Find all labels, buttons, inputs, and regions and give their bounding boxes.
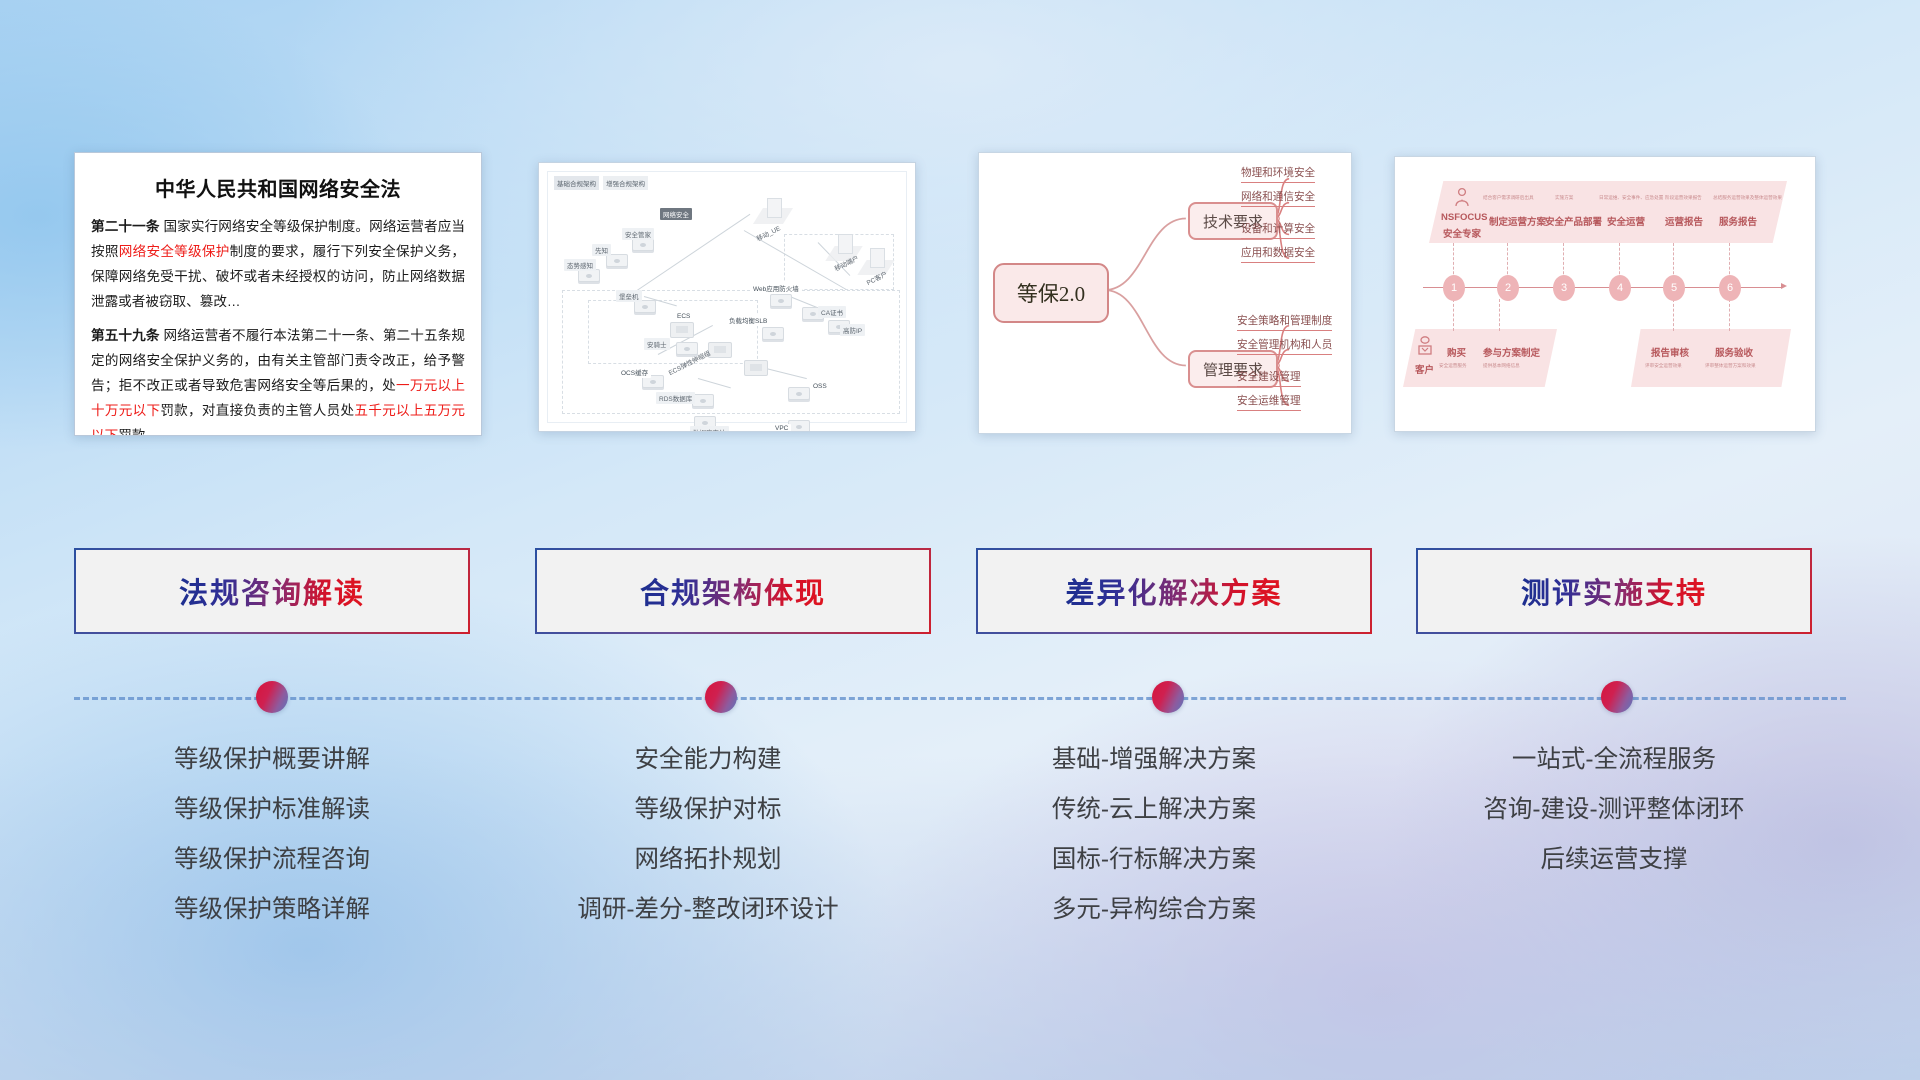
law-text-card: 中华人民共和国网络安全法 第二十一条 国家实行网络安全等级保护制度。网络运营者应… [74, 152, 482, 436]
list-item: 后续运营支撑 [1396, 835, 1832, 885]
label-ecs: ECS [674, 312, 693, 321]
list-item: 等级保护概要讲解 [74, 735, 470, 785]
node-rds [692, 394, 714, 407]
server-icon-pc [870, 248, 885, 268]
bottom-step-1-sub: 安全运营服务 [1439, 363, 1467, 369]
article-59-text-c: 罚款。 [118, 428, 159, 436]
bullet-column-4: 一站式-全流程服务 咨询-建设-测评整体闭环 后续运营支撑 [1396, 735, 1832, 885]
dash-b6 [1729, 299, 1731, 331]
step-dot-4: 4 [1609, 275, 1631, 301]
timeline-dot-2[interactable] [705, 681, 737, 713]
timeline-dot-4[interactable] [1601, 681, 1633, 713]
banner-label-4: 测评实施支持 [1521, 570, 1707, 612]
expert-name: NSFOCUS [1441, 212, 1487, 223]
mindmap-root-node: 等保2.0 [993, 263, 1109, 323]
step-dot-1: 1 [1443, 275, 1465, 301]
label-bastion-host: 堡垒机 [616, 290, 642, 302]
label-rds: RDS数据库 [656, 392, 695, 404]
dash-b2 [1499, 299, 1501, 331]
dash-b5 [1673, 299, 1675, 331]
node-slb [762, 327, 784, 340]
label-network-security: 网络安全 [660, 208, 692, 220]
label-db-audit: 数据库审计 [690, 426, 729, 432]
list-item: 一站式-全流程服务 [1396, 735, 1832, 785]
mindmap-leaf-physical-env: 物理和环境安全 [1241, 165, 1315, 183]
banner-differentiated-solution[interactable]: 差异化解决方案 [976, 548, 1372, 634]
bullet-column-2: 安全能力构建 等级保护对标 网络拓扑规划 调研-差分-整改闭环设计 [510, 735, 906, 935]
banner-assessment-support[interactable]: 测评实施支持 [1416, 548, 1812, 634]
top-step-2-sub: 实施方案 [1555, 195, 1573, 201]
bullet-column-1: 等级保护概要讲解 等级保护标准解读 等级保护流程咨询 等级保护策略详解 [74, 735, 470, 935]
timeline-dot-3[interactable] [1152, 681, 1184, 713]
bottom-step-4-title: 服务验收 [1715, 345, 1753, 359]
list-item: 国标-行标解决方案 [956, 835, 1352, 885]
label-waf: Web应用防火墙 [750, 282, 802, 294]
banner-label-1: 法规咨询解读 [179, 570, 365, 612]
list-item: 等级保护流程咨询 [74, 835, 470, 885]
bottom-step-2-sub: 提供基本网络信息 [1483, 363, 1520, 369]
top-step-3-sub: 日常运维、安全事件、应急处置 [1599, 195, 1663, 201]
top-step-4-sub: 阶段运营效果报告 [1665, 195, 1702, 201]
law-card-title: 中华人民共和国网络安全法 [91, 173, 465, 202]
expert-sub: 安全专家 [1443, 226, 1481, 240]
label-ca: CA证书 [818, 306, 846, 318]
tab-enhanced-architecture[interactable]: 增强合规架构 [603, 176, 648, 190]
node-ecs [670, 322, 694, 338]
top-step-3-title: 安全运营 [1607, 214, 1645, 228]
process-axis-arrow-icon [1781, 283, 1787, 289]
bottom-step-3-sub: 评审安全运营效果 [1645, 363, 1682, 369]
top-step-1-sub: 结合客户需求调研后出具 [1483, 195, 1534, 201]
bottom-step-4-sub: 评审整体运营方案和效果 [1705, 363, 1756, 369]
article-21-label: 第二十一条 [91, 219, 160, 234]
list-item: 网络拓扑规划 [510, 835, 906, 885]
list-item: 等级保护对标 [510, 785, 906, 835]
bullet-column-3: 基础-增强解决方案 传统-云上解决方案 国标-行标解决方案 多元-异构综合方案 [956, 735, 1352, 935]
link-1 [634, 214, 751, 293]
banner-label-2: 合规架构体现 [640, 570, 826, 612]
expert-person-icon [1451, 187, 1473, 209]
law-article-21: 第二十一条 国家实行网络安全等级保护制度。网络运营者应当按照网络安全等级保护制度… [91, 214, 465, 314]
banner-label-3: 差异化解决方案 [1065, 570, 1282, 612]
timeline-line [74, 697, 1846, 700]
banner-regulation-consulting[interactable]: 法规咨询解读 [74, 548, 470, 634]
node-waf [770, 294, 792, 307]
top-step-4-title: 运营报告 [1665, 214, 1703, 228]
tab-basic-architecture[interactable]: 基础合规架构 [554, 176, 599, 190]
timeline-dot-1[interactable] [256, 681, 288, 713]
top-step-5-sub: 总结服务运营效果及整体运营效果 [1713, 195, 1782, 201]
mindmap-leaf-construction-mgmt: 安全建设管理 [1237, 369, 1301, 387]
law-article-59: 第五十九条 网络运营者不履行本法第二十一条、第二十五条规定的网络安全保护义务的，… [91, 323, 465, 436]
label-security-butler: 安全管家 [622, 228, 654, 240]
dash-3 [1563, 243, 1565, 279]
mindmap-leaf-ops-mgmt: 安全运维管理 [1237, 393, 1301, 411]
node-vpc [788, 420, 810, 432]
list-item: 调研-差分-整改闭环设计 [510, 885, 906, 935]
top-step-5-title: 服务报告 [1719, 214, 1757, 228]
article-59-label: 第五十九条 [91, 328, 160, 343]
bottom-step-1-title: 购买 [1447, 345, 1466, 359]
mindmap-leaf-app-data: 应用和数据安全 [1241, 245, 1315, 263]
label-vpc: VPC [772, 424, 791, 432]
mindmap-leaf-org-personnel: 安全管理机构和人员 [1237, 337, 1332, 355]
top-step-1-title: 制定运营方案 [1489, 214, 1546, 228]
service-process-card: NSFOCUS 安全专家 客户 结合客户需求调研后出具 制定运营方案 实施方案 … [1394, 156, 1816, 432]
list-item: 等级保护标准解读 [74, 785, 470, 835]
banner-compliance-architecture[interactable]: 合规架构体现 [535, 548, 931, 634]
list-item: 基础-增强解决方案 [956, 735, 1352, 785]
step-dot-6: 6 [1719, 275, 1741, 301]
node-ecs-group-2 [744, 360, 768, 376]
article-21-highlight: 网络安全等级保护 [119, 244, 230, 259]
dash-4 [1619, 243, 1621, 279]
step-dot-3: 3 [1553, 275, 1575, 301]
top-step-2-title: 安全产品部署 [1545, 214, 1602, 228]
step-dot-2: 2 [1497, 275, 1519, 301]
label-anqishi: 安骑士 [644, 338, 670, 350]
label-anti-ddos: 高防IP [840, 324, 865, 336]
server-icon-top [767, 198, 782, 218]
label-mobile-ue: 移动_UE [751, 220, 785, 245]
dash-2 [1507, 243, 1509, 279]
architecture-tabs: 基础合规架构 增强合规架构 [554, 176, 648, 190]
architecture-canvas: 基础合规架构 增强合规架构 [547, 171, 907, 423]
step-dot-5: 5 [1663, 275, 1685, 301]
dash-1 [1453, 243, 1455, 279]
mindmap-leaf-network-comm: 网络和通信安全 [1241, 189, 1315, 207]
article-59-text-b: 罚款，对直接负责的主管人员处 [160, 403, 354, 418]
dash-5 [1673, 243, 1675, 279]
server-icon-mobile [838, 234, 853, 254]
list-item: 传统-云上解决方案 [956, 785, 1352, 835]
customer-person-icon [1415, 335, 1435, 359]
label-slb: 负载均衡SLB [726, 314, 770, 326]
list-item: 咨询-建设-测评整体闭环 [1396, 785, 1832, 835]
dash-6 [1729, 243, 1731, 279]
label-situation-awareness: 态势感知 [564, 259, 596, 271]
dash-b1 [1453, 299, 1455, 331]
bottom-step-3-title: 报告审核 [1651, 345, 1689, 359]
mindmap-card: 等保2.0 技术要求 管理要求 物理和环境安全 网络和通信安全 设备和计算安全 … [978, 152, 1352, 434]
label-xianzhi: 先知 [592, 244, 611, 256]
customer-name: 客户 [1415, 362, 1434, 376]
list-item: 多元-异构综合方案 [956, 885, 1352, 935]
mindmap-leaf-policy-system: 安全策略和管理制度 [1237, 313, 1332, 331]
bottom-step-2-title: 参与方案制定 [1483, 345, 1540, 359]
node-oss [788, 387, 810, 400]
architecture-diagram-card: 基础合规架构 增强合规架构 [538, 162, 916, 432]
label-ocs: OCS缓存 [618, 366, 651, 378]
list-item: 安全能力构建 [510, 735, 906, 785]
list-item: 等级保护策略详解 [74, 885, 470, 935]
label-oss: OSS [810, 382, 830, 391]
mindmap-leaf-device-compute: 设备和计算安全 [1241, 221, 1315, 239]
